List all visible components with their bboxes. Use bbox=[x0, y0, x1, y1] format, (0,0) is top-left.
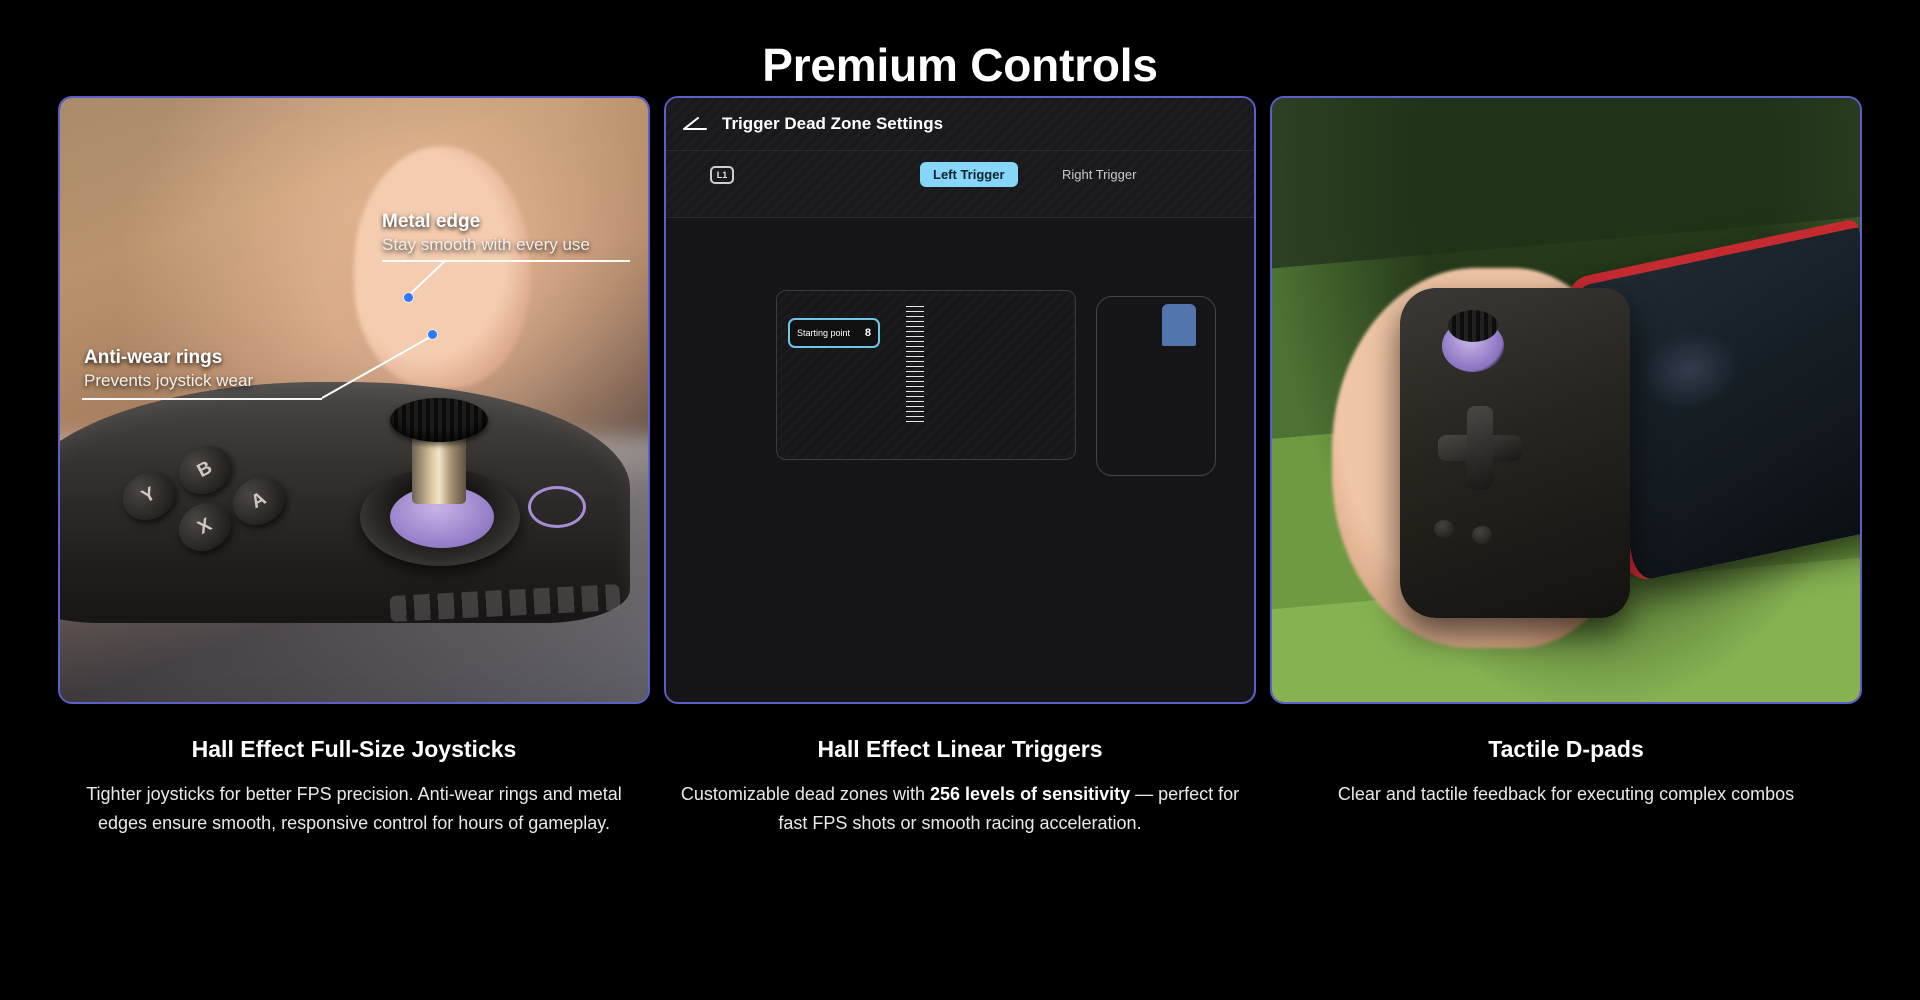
tab-right-trigger[interactable]: Right Trigger bbox=[1062, 167, 1136, 182]
card-media-joysticks: B Y A X Metal edge Stay smooth with ever… bbox=[58, 96, 650, 704]
caption-part-bold: 256 levels of sensitivity bbox=[930, 784, 1130, 804]
settings-header: Trigger Dead Zone Settings bbox=[666, 98, 1254, 150]
dpad-icon bbox=[1438, 406, 1522, 490]
trigger-settings-ui: B A Y X Trig bbox=[666, 98, 1254, 702]
trigger-diagram-highlight bbox=[1162, 304, 1196, 346]
callout-anti-wear-rule bbox=[82, 398, 322, 400]
caption-title-dpads: Tactile D-pads bbox=[1270, 734, 1862, 764]
function-button-2 bbox=[1472, 526, 1492, 544]
settings-body: Starting point 8 bbox=[666, 218, 1254, 702]
caption-title-joysticks: Hall Effect Full-Size Joysticks bbox=[58, 734, 650, 764]
tab-left-trigger[interactable]: Left Trigger bbox=[920, 162, 1018, 187]
callout-anti-wear-dot bbox=[428, 330, 437, 339]
premium-controls-page: Premium Controls B Y A X Metal edg bbox=[0, 0, 1920, 1000]
dead-zone-graph bbox=[776, 290, 1076, 460]
starting-point-field[interactable]: Starting point 8 bbox=[788, 318, 880, 348]
feature-cards: B Y A X Metal edge Stay smooth with ever… bbox=[0, 96, 1920, 838]
card-media-triggers: B A Y X Trig bbox=[664, 96, 1256, 704]
feature-card-triggers: B A Y X Trig bbox=[664, 96, 1256, 838]
caption-body-triggers: Customizable dead zones with 256 levels … bbox=[664, 780, 1256, 838]
feature-card-joysticks: B Y A X Metal edge Stay smooth with ever… bbox=[58, 96, 650, 838]
back-arrow-icon[interactable] bbox=[682, 114, 708, 134]
starting-point-label: Starting point bbox=[797, 328, 850, 338]
home-ring-light bbox=[528, 486, 586, 528]
controller-diagram bbox=[1096, 296, 1216, 476]
caption-body-dpads: Clear and tactile feedback for executing… bbox=[1270, 780, 1862, 809]
callout-anti-wear-title: Anti-wear rings bbox=[84, 346, 253, 369]
callout-metal-edge-title: Metal edge bbox=[382, 210, 590, 233]
caption-part-1: Customizable dead zones with bbox=[681, 784, 930, 804]
trigger-tab-bar: L1 Left Trigger Right Trigger bbox=[666, 150, 1254, 198]
feature-card-dpads: Tactile D-pads Clear and tactile feedbac… bbox=[1270, 96, 1862, 838]
callout-anti-wear: Anti-wear rings Prevents joystick wear bbox=[84, 346, 253, 392]
caption-body-joysticks: Tighter joysticks for better FPS precisi… bbox=[58, 780, 650, 838]
settings-title: Trigger Dead Zone Settings bbox=[722, 114, 943, 134]
function-button-1 bbox=[1434, 520, 1454, 538]
callout-anti-wear-leader bbox=[310, 328, 440, 402]
callout-metal-edge-leader bbox=[360, 238, 450, 300]
caption-title-triggers: Hall Effect Linear Triggers bbox=[664, 734, 1256, 764]
dead-zone-ruler bbox=[906, 306, 924, 424]
starting-point-value: 8 bbox=[865, 327, 871, 339]
card-media-dpads bbox=[1270, 96, 1862, 704]
settings-top-bar: Trigger Dead Zone Settings L1 Left Trigg… bbox=[666, 98, 1254, 218]
page-title: Premium Controls bbox=[0, 0, 1920, 96]
callout-metal-edge-dot bbox=[404, 293, 413, 302]
joystick-cap bbox=[390, 398, 488, 442]
shoulder-button-badge: L1 bbox=[710, 166, 734, 184]
joystick-cap bbox=[1448, 310, 1498, 342]
controller-illustration bbox=[1400, 288, 1630, 618]
callout-anti-wear-subtitle: Prevents joystick wear bbox=[84, 369, 253, 392]
